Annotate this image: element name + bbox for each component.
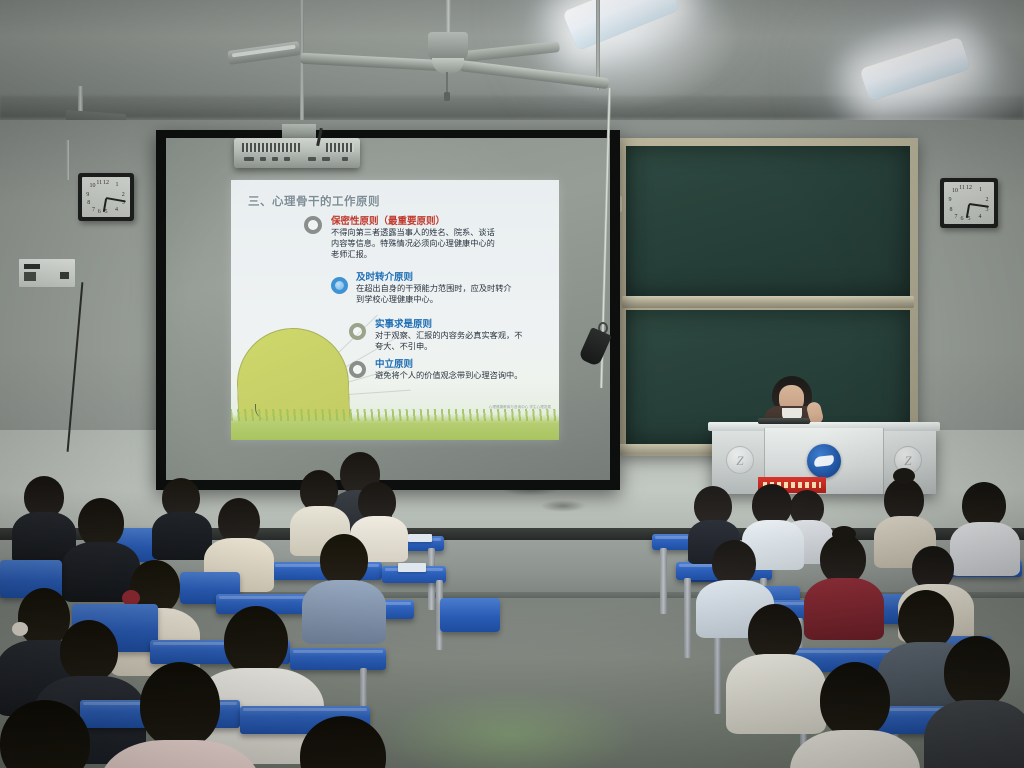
floor-light-reflection bbox=[380, 690, 640, 768]
slide-grass-graphic bbox=[231, 414, 559, 440]
desk[interactable] bbox=[290, 648, 386, 670]
slide-bullet-1-heading: 保密性原则（最重要原则） bbox=[331, 213, 445, 227]
desk-leg bbox=[660, 548, 667, 614]
ring-gray-icon bbox=[304, 216, 322, 234]
ring-gray-icon bbox=[349, 361, 366, 378]
wall-electrical-box[interactable] bbox=[18, 258, 76, 288]
hair-scrunchie bbox=[12, 622, 28, 636]
speaker-mount bbox=[66, 140, 69, 180]
clock-minute-hand bbox=[969, 203, 989, 208]
clock-face: 12 1 2 3 4 5 6 7 8 9 10 11 bbox=[944, 182, 994, 224]
slide-bullet-4-body: 避免将个人的价值观念带到心理咨询中。 bbox=[375, 370, 525, 381]
slide-footnote: 心理健康教育与咨询中心 学生心理发展 bbox=[489, 405, 551, 410]
paper-sheet[interactable] bbox=[408, 534, 432, 542]
chalkboard-rail bbox=[622, 296, 914, 308]
wall-clock-right: 12 1 2 3 4 5 6 7 8 9 10 11 bbox=[940, 178, 998, 228]
presentation-slide: 三、心理骨干的工作原则 保密性原则（最重要原则） 不得向第三者透露当事人的姓名、… bbox=[231, 180, 559, 440]
slide-bullet-2-body: 在超出自身的干预能力范围时，应及时转介到学校心理健康中心。 bbox=[356, 283, 516, 305]
slide-bullet-3-heading: 实事求是原则 bbox=[375, 316, 432, 330]
classroom-scene: 12 1 2 3 4 5 6 7 8 9 10 11 12 1 2 3 4 5 … bbox=[0, 0, 1024, 768]
chalkboard-upper-panel bbox=[626, 146, 910, 296]
ceiling-fan-rod bbox=[446, 0, 451, 36]
wall-smudge bbox=[540, 500, 586, 512]
slide-bullet-1-body: 不得向第三者透露当事人的姓名、院系、谈话内容等信息。特殊情况必须向心理健康中心的… bbox=[331, 227, 501, 260]
school-emblem-icon bbox=[807, 444, 841, 478]
slide-bullet-2-heading: 及时转介原则 bbox=[356, 269, 413, 283]
projector-vent bbox=[326, 143, 354, 152]
clock-face: 12 1 2 3 4 5 6 7 8 9 10 11 bbox=[82, 177, 130, 217]
ceiling-projector bbox=[234, 138, 360, 168]
slide-title: 三、心理骨干的工作原则 bbox=[248, 193, 380, 209]
ring-olive-icon bbox=[349, 323, 366, 340]
paper-sheet[interactable] bbox=[398, 563, 426, 572]
desk-leg bbox=[684, 578, 691, 658]
slide-bullet-3-body: 对于观察、汇报的内容务必真实客观，不夸大、不引申。 bbox=[375, 330, 525, 352]
ring-blue-icon bbox=[331, 277, 348, 294]
podium-emblem-left: Z bbox=[726, 446, 754, 474]
projection-screen: 三、心理骨干的工作原则 保密性原则（最重要原则） 不得向第三者透露当事人的姓名、… bbox=[156, 130, 620, 490]
slide-bullet-4-heading: 中立原则 bbox=[375, 356, 413, 370]
ceiling-fan-pull-chain[interactable] bbox=[446, 72, 448, 94]
clock-minute-hand bbox=[106, 197, 126, 202]
ceiling-mount-pole-left bbox=[300, 0, 304, 140]
podium-microphone bbox=[758, 418, 810, 424]
chair[interactable] bbox=[440, 598, 500, 632]
wall-clock-left: 12 1 2 3 4 5 6 7 8 9 10 11 bbox=[78, 173, 134, 221]
projection-screen-surface: 三、心理骨干的工作原则 保密性原则（最重要原则） 不得向第三者透露当事人的姓名、… bbox=[166, 138, 610, 480]
projector-vent bbox=[242, 143, 300, 152]
